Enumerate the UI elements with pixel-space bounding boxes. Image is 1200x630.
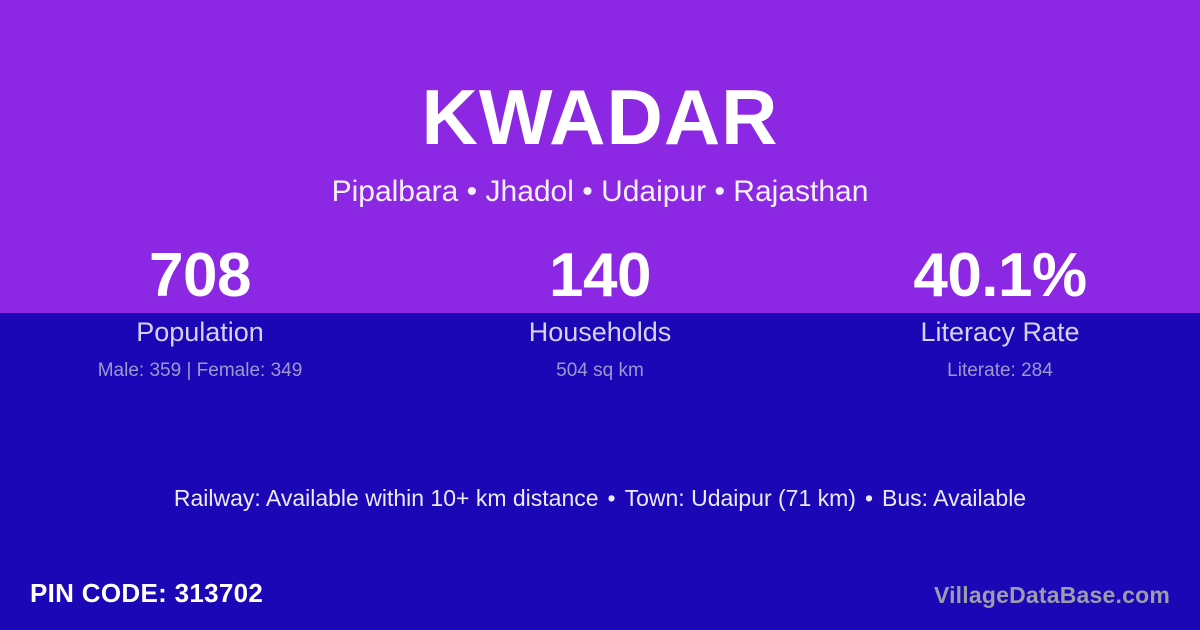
- stat-population: 708 Population Male: 359 | Female: 349: [0, 243, 400, 383]
- infrastructure-line: Railway: Available within 10+ km distanc…: [0, 484, 1200, 514]
- stats-row: 708 Population Male: 359 | Female: 349 1…: [0, 243, 1200, 383]
- stat-value: 40.1%: [800, 243, 1200, 310]
- stat-households: 140 Households 504 sq km: [400, 243, 800, 383]
- stat-sublabel: 504 sq km: [400, 360, 800, 383]
- stat-value: 140: [400, 243, 800, 310]
- infrastructure-railway: Railway: Available within 10+ km distanc…: [174, 485, 599, 511]
- infrastructure-separator: •: [599, 484, 625, 514]
- stat-sublabel: Literate: 284: [800, 360, 1200, 383]
- card-footer: PIN CODE: 313702 VillageDataBase.com: [0, 575, 1200, 630]
- infrastructure-separator: •: [856, 484, 882, 514]
- infrastructure-bus: Bus: Available: [882, 485, 1026, 511]
- stat-literacy-rate: 40.1% Literacy Rate Literate: 284: [800, 243, 1200, 383]
- village-info-card: KWADAR Pipalbara • Jhadol • Udaipur • Ra…: [0, 0, 1200, 630]
- page-title: KWADAR: [0, 78, 1200, 158]
- stat-label: Population: [0, 316, 400, 348]
- infrastructure-town: Town: Udaipur (71 km): [625, 485, 856, 511]
- card-header: KWADAR Pipalbara • Jhadol • Udaipur • Ra…: [0, 78, 1200, 210]
- stat-label: Literacy Rate: [800, 316, 1200, 348]
- pin-code: PIN CODE: 313702: [30, 578, 263, 609]
- stat-value: 708: [0, 243, 400, 310]
- stat-sublabel: Male: 359 | Female: 349: [0, 360, 400, 383]
- stat-label: Households: [400, 316, 800, 348]
- site-brand: VillageDataBase.com: [934, 582, 1170, 610]
- breadcrumb: Pipalbara • Jhadol • Udaipur • Rajasthan: [0, 174, 1200, 210]
